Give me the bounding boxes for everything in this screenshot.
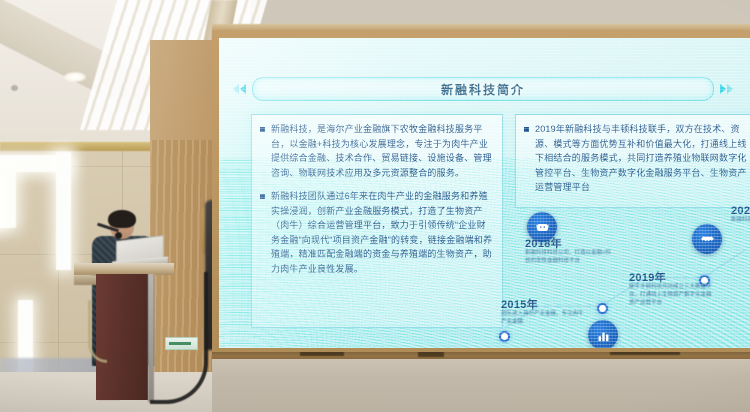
list-item: 2019年新融科技与丰顿科技联手，双方在技术、资源、模式等方面优势互补和价值最大…: [524, 122, 750, 195]
timeline-desc: 新融科技与合作伙伴共建生态: [731, 216, 750, 224]
timeline-node: [597, 303, 608, 314]
bullet-square-icon: [260, 194, 265, 199]
led-screen: 新融科技简介 新融科技，是海尔产业金融旗下农牧金融科技服务平台，以金融+科技为核…: [219, 38, 750, 348]
timeline-desc: 团队进入海尔产业金融，专注肉牛产业金融: [501, 310, 587, 326]
wall-gold-trim: [0, 142, 170, 151]
page-title: 新融科技简介: [441, 81, 525, 98]
chevron-right-icon: [720, 84, 733, 94]
chevron-left-icon: [233, 84, 246, 94]
bullet-square-icon: [260, 127, 265, 132]
timeline-node: [499, 331, 510, 342]
timeline: 2015年 团队进入海尔产业金融，专注肉牛产业金融 2018年 新融科技科技公司…: [505, 214, 750, 348]
speaker-hair: [108, 210, 136, 228]
bullet-text: 新融科技团队通过6年来在肉牛产业的金融服务和养殖实操浸润，创新产业金融服务模式，…: [271, 189, 493, 276]
bullet-text: 新融科技，是海尔产业金融旗下农牧金融科技服务平台，以金融+科技为核心发展理念，专…: [271, 122, 493, 180]
power-cable: [150, 272, 208, 404]
right-content-card: 2019年新融科技与丰顿科技联手，双方在技术、资源、模式等方面优势互补和价值最大…: [515, 114, 750, 208]
timeline-desc: 联手丰顿科技共同成立三大数据平台，打通线上生物资产数字化金融资产运营平台: [629, 283, 715, 307]
timeline-desc: 新融科技科技公司，打造以金融+科技的农牧金融科技平台: [525, 249, 611, 265]
bullet-square-icon: [524, 127, 529, 132]
list-item: 新融科技，是海尔产业金融旗下农牧金融科技服务平台，以金融+科技为核心发展理念，专…: [260, 122, 493, 180]
handshake-icon: [692, 224, 722, 254]
slide-title-pill: 新融科技简介: [252, 77, 714, 101]
ceiling-downlight: [64, 72, 86, 82]
wall-light-strip: [56, 152, 71, 270]
sprinkler-head-icon: [11, 85, 18, 91]
list-item: 新融科技团队通过6年来在肉牛产业的金融服务和养殖实操浸润，创新产业金融服务模式，…: [260, 189, 493, 276]
left-content-card: 新融科技，是海尔产业金融旗下农牧金融科技服务平台，以金融+科技为核心发展理念，专…: [251, 114, 503, 328]
screenshot-root: 新融科技简介 新融科技，是海尔产业金融旗下农牧金融科技服务平台，以金融+科技为核…: [0, 0, 750, 412]
bar-chart-icon: [588, 320, 618, 348]
slide-title-bar: 新融科技简介: [233, 76, 733, 102]
wall-light-strip: [0, 168, 16, 228]
power-cable: [88, 300, 107, 363]
bullet-text: 2019年新融科技与丰顿科技联手，双方在技术、资源、模式等方面优势互补和价值最大…: [535, 122, 750, 195]
microphone-head-icon: [115, 232, 122, 239]
stage-floor: [212, 352, 750, 412]
